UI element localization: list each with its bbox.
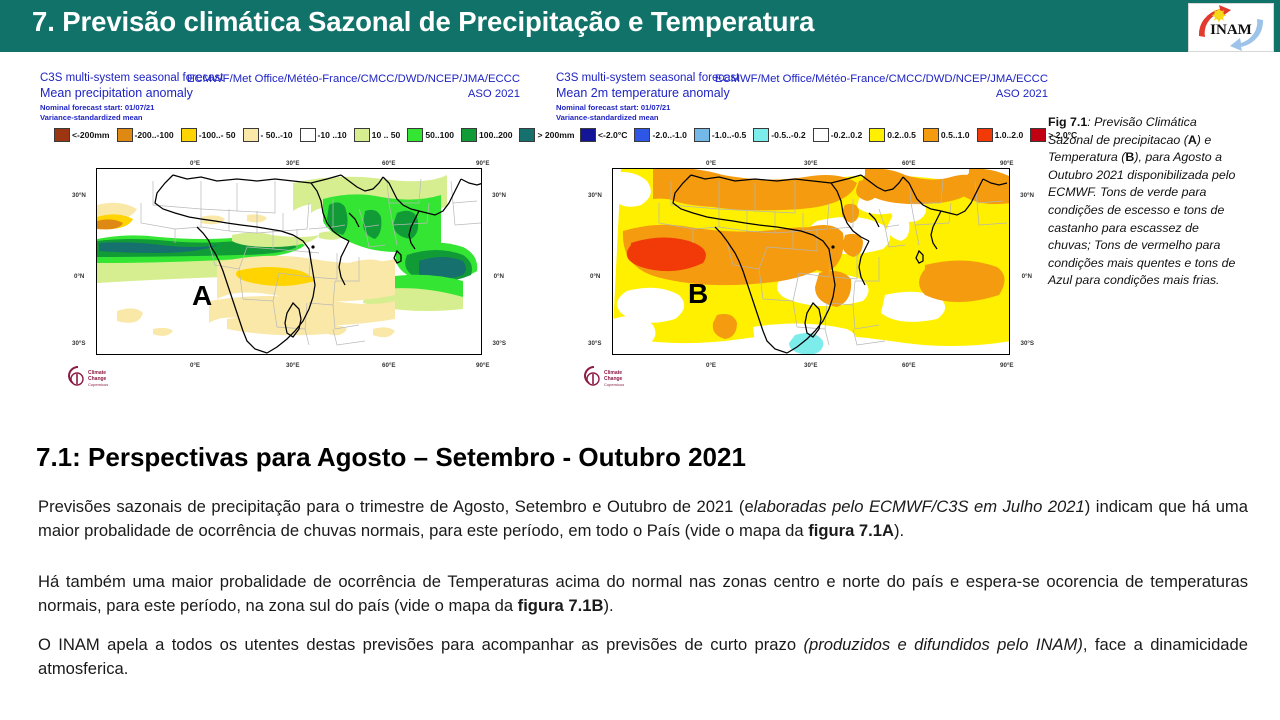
axis-x-bottom-tick: 0°E [706, 362, 716, 369]
axis-x-top-tick: 0°E [190, 160, 200, 167]
legend-label: <-2.0°C [598, 130, 627, 140]
legend-swatch [869, 128, 885, 142]
figure-caption-bold-a: A [1188, 133, 1197, 147]
axis-y-left-tick: 30°N [588, 192, 602, 199]
figure-b-map-container: 0°E 30°E 60°E 90°E 0°E 30°E 60°E 90°E 30… [580, 160, 1036, 375]
legend-label: 50..100 [425, 130, 454, 140]
legend-label: 1.0..2.0 [995, 130, 1024, 140]
legend-swatch [1030, 128, 1046, 142]
figure-caption: Fig 7.1: Previsão Climática Sazonal de p… [1048, 114, 1244, 290]
axis-x-top-tick: 90°E [476, 160, 489, 167]
legend-label: -2.0..-1.0 [652, 130, 686, 140]
legend-item: <-200mm [54, 128, 110, 142]
axis-x-top-tick: 60°E [382, 160, 395, 167]
paragraph-1-part-a: Previsões sazonais de precipitação para … [38, 497, 754, 516]
legend-swatch [694, 128, 710, 142]
legend-item: <-2.0°C [580, 128, 627, 142]
axis-y-right-tick: 30°S [1021, 340, 1034, 347]
legend-swatch [634, 128, 650, 142]
page-title: 7. Previsão climática Sazonal de Precipi… [32, 6, 814, 38]
legend-swatch [243, 128, 259, 142]
axis-y-left-tick: 0°N [590, 273, 600, 280]
axis-x-bottom-tick: 60°E [382, 362, 395, 369]
axis-y-left-tick: 30°S [588, 340, 601, 347]
figure-panel-precipitation: C3S multi-system seasonal forecast Mean … [34, 68, 522, 413]
figure-a-forecast-start: Nominal forecast start: 01/07/21 [40, 103, 223, 112]
paragraph-1: Previsões sazonais de precipitação para … [38, 495, 1248, 542]
legend-swatch [181, 128, 197, 142]
figure-caption-bold-b: B [1125, 150, 1134, 164]
axis-y-right-tick: 0°N [494, 273, 504, 280]
slide: 7. Previsão climática Sazonal de Precipi… [0, 0, 1280, 720]
figure-panel-temperature: C3S multi-system seasonal forecast Mean … [550, 68, 1050, 413]
legend-swatch [461, 128, 477, 142]
legend-swatch [117, 128, 133, 142]
figure-b-variance-note: Variance-standardized mean [556, 113, 739, 122]
legend-item: 0.5..1.0 [923, 128, 970, 142]
paragraph-1-bold-ref: figura 7.1A [808, 521, 894, 540]
svg-text:Copernicus: Copernicus [604, 382, 624, 387]
axis-y-left-tick: 30°N [72, 192, 86, 199]
legend-label: -0.2..0.2 [831, 130, 863, 140]
axis-x-top-tick: 90°E [1000, 160, 1013, 167]
figure-b-forecast-start: Nominal forecast start: 01/07/21 [556, 103, 739, 112]
legend-swatch [300, 128, 316, 142]
figure-a-letter: A [192, 280, 212, 312]
legend-swatch [977, 128, 993, 142]
legend-item: 100..200 [461, 128, 512, 142]
axis-x-top-tick: 30°E [286, 160, 299, 167]
paragraph-2: Há também uma maior probalidade de ocorr… [38, 570, 1248, 617]
legend-swatch [753, 128, 769, 142]
figure-a-legend: <-200mm -200..-100 -100..- 50 - 50..-10 … [54, 128, 582, 142]
legend-item: 1.0..2.0 [977, 128, 1024, 142]
legend-swatch [407, 128, 423, 142]
paragraph-3: O INAM apela a todos os utentes destas p… [38, 633, 1248, 680]
axis-x-top-tick: 60°E [902, 160, 915, 167]
figure-a-season: ASO 2021 [187, 87, 520, 102]
legend-label: - 50..-10 [261, 130, 293, 140]
figure-b-map [612, 168, 1010, 355]
axis-y-right-tick: 30°N [492, 192, 506, 199]
figure-b-legend: <-2.0°C -2.0..-1.0 -1.0..-0.5 -0.5..-0.2… [580, 128, 1084, 142]
legend-label: -10 ..10 [318, 130, 347, 140]
paragraph-1-part-c: ). [894, 521, 904, 540]
paragraph-2-part-b: ). [603, 596, 613, 615]
legend-swatch [354, 128, 370, 142]
figure-b-providers-block: ECMWF/Met Office/Météo-France/CMCC/DWD/N… [715, 72, 1048, 103]
paragraph-3-part-a: O INAM apela a todos os utentes destas p… [38, 635, 803, 654]
legend-label: -200..-100 [135, 130, 174, 140]
figure-a-map-container: 0°E 30°E 60°E 90°E 0°E 30°E 60°E 90°E 30… [64, 160, 508, 375]
inam-logo-icon: INAM [1189, 4, 1273, 51]
legend-item: -0.5..-0.2 [753, 128, 805, 142]
figure-caption-label: Fig 7.1 [1048, 115, 1087, 129]
axis-x-bottom-tick: 60°E [902, 362, 915, 369]
figure-b-title-line1: C3S multi-system seasonal forecast [556, 72, 739, 84]
figure-a-map [96, 168, 482, 355]
legend-item: - 50..-10 [243, 128, 293, 142]
legend-item: 50..100 [407, 128, 454, 142]
svg-text:INAM: INAM [1210, 22, 1252, 38]
figure-b-providers: ECMWF/Met Office/Météo-France/CMCC/DWD/N… [715, 72, 1048, 87]
legend-swatch [519, 128, 535, 142]
figure-b-season: ASO 2021 [715, 87, 1048, 102]
copernicus-logo-icon: Climate Change Copernicus [580, 363, 658, 389]
legend-swatch [813, 128, 829, 142]
legend-item: 10 .. 50 [354, 128, 401, 142]
figure-a-variance-note: Variance-standardized mean [40, 113, 223, 122]
inam-logo: INAM [1188, 3, 1274, 52]
legend-label: 10 .. 50 [372, 130, 401, 140]
legend-label: -1.0..-0.5 [712, 130, 746, 140]
legend-item: -100..- 50 [181, 128, 236, 142]
legend-label: -0.5..-0.2 [771, 130, 805, 140]
legend-label: -100..- 50 [199, 130, 236, 140]
legend-label: 0.5..1.0 [941, 130, 970, 140]
axis-x-bottom-tick: 30°E [804, 362, 817, 369]
slide-header-bar: 7. Previsão climática Sazonal de Precipi… [0, 0, 1280, 52]
temperature-anomaly-heatmap [613, 169, 1010, 355]
axis-y-right-tick: 0°N [1022, 273, 1032, 280]
paragraph-1-italic: laboradas pelo ECMWF/C3S em Julho 2021 [754, 497, 1085, 516]
legend-swatch [923, 128, 939, 142]
axis-y-right-tick: 30°N [1020, 192, 1034, 199]
figure-caption-text-3: ), para Agosto a Outubro 2021 disponibil… [1048, 150, 1235, 287]
legend-label: 0.2..0.5 [887, 130, 916, 140]
legend-item: -10 ..10 [300, 128, 347, 142]
axis-x-bottom-tick: 0°E [190, 362, 200, 369]
axis-y-left-tick: 0°N [74, 273, 84, 280]
svg-text:Copernicus: Copernicus [88, 382, 108, 387]
legend-label: 100..200 [479, 130, 512, 140]
legend-item: -2.0..-1.0 [634, 128, 686, 142]
figure-b-title-line2: Mean 2m temperature anomaly [556, 86, 739, 100]
precipitation-anomaly-heatmap [97, 169, 482, 355]
axis-x-bottom-tick: 90°E [1000, 362, 1013, 369]
section-title: 7.1: Perspectivas para Agosto – Setembro… [36, 442, 746, 473]
legend-item: -1.0..-0.5 [694, 128, 746, 142]
figure-b-letter: B [688, 278, 708, 310]
axis-x-bottom-tick: 90°E [476, 362, 489, 369]
axis-y-left-tick: 30°S [72, 340, 85, 347]
legend-item: 0.2..0.5 [869, 128, 916, 142]
axis-x-top-tick: 0°E [706, 160, 716, 167]
axis-x-bottom-tick: 30°E [286, 362, 299, 369]
legend-label: <-200mm [72, 130, 110, 140]
legend-swatch [54, 128, 70, 142]
axis-x-top-tick: 30°E [804, 160, 817, 167]
legend-swatch [580, 128, 596, 142]
figure-b-titles: C3S multi-system seasonal forecast Mean … [556, 72, 739, 122]
paragraph-3-italic: (produzidos e difundidos pelo INAM) [803, 635, 1082, 654]
legend-item: -0.2..0.2 [813, 128, 863, 142]
paragraph-2-bold-ref: figura 7.1B [518, 596, 604, 615]
paragraph-2-part-a: Há também uma maior probalidade de ocorr… [38, 572, 1248, 615]
figure-a-providers-block: ECMWF/Met Office/Météo-France/CMCC/DWD/N… [187, 72, 520, 103]
axis-y-right-tick: 30°S [493, 340, 506, 347]
copernicus-logo-icon: Climate Change Copernicus [64, 363, 142, 389]
legend-item: -200..-100 [117, 128, 174, 142]
figure-a-providers: ECMWF/Met Office/Météo-France/CMCC/DWD/N… [187, 72, 520, 87]
